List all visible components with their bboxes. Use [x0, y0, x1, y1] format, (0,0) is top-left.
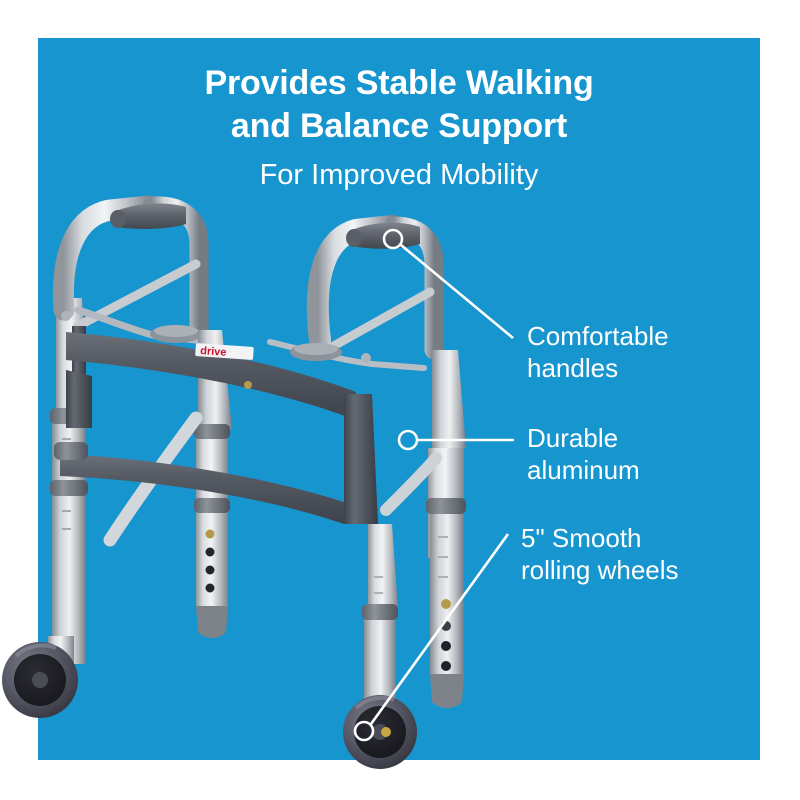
- callout-leader-lines: [0, 0, 800, 800]
- leader-line-comfortable-handles: [384, 230, 513, 338]
- product-infographic: drive: [0, 0, 800, 800]
- callout-label-durable-aluminum: Durable aluminum: [527, 422, 640, 486]
- leader-line-durable-aluminum: [399, 431, 514, 449]
- leader-line-rolling-wheels: [355, 534, 508, 740]
- callout-label-rolling-wheels: 5" Smooth rolling wheels: [521, 522, 679, 586]
- callout-label-comfortable-handles: Comfortable handles: [527, 320, 669, 384]
